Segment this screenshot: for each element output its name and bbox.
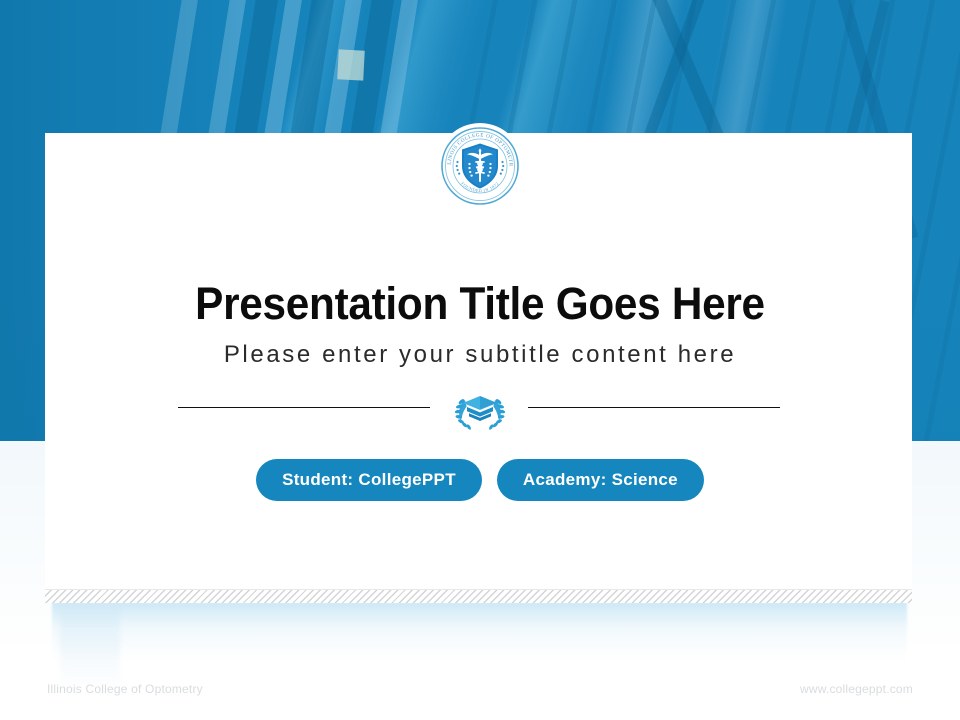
student-pill-button[interactable]: Student: CollegePPT	[256, 459, 482, 501]
illinois-college-of-optometry-seal-icon: ILLINOIS COLLEGE OF OPTOMETRY FOUNDED IN…	[440, 126, 520, 206]
card-reflection-glow-left	[60, 602, 120, 692]
presentation-slide: ILLINOIS COLLEGE OF OPTOMETRY FOUNDED IN…	[0, 0, 960, 720]
footer-website-url: www.collegeppt.com	[800, 682, 913, 696]
seal-logo: ILLINOIS COLLEGE OF OPTOMETRY FOUNDED IN…	[437, 123, 523, 209]
meta-pill-group: Student: CollegePPT Academy: Science	[0, 459, 960, 501]
page-title: Presentation Title Goes Here	[29, 276, 931, 332]
graduation-cap-laurel-icon	[452, 388, 508, 432]
divider-rule-left	[178, 407, 430, 408]
academy-pill-button[interactable]: Academy: Science	[497, 459, 704, 501]
page-subtitle: Please enter your subtitle content here	[0, 339, 960, 371]
card-reflection-glow	[52, 602, 907, 660]
divider-rule-right	[528, 407, 780, 408]
footer-institution-name: Illinois College of Optometry	[47, 682, 203, 696]
card-bottom-stripe-band	[45, 589, 912, 603]
